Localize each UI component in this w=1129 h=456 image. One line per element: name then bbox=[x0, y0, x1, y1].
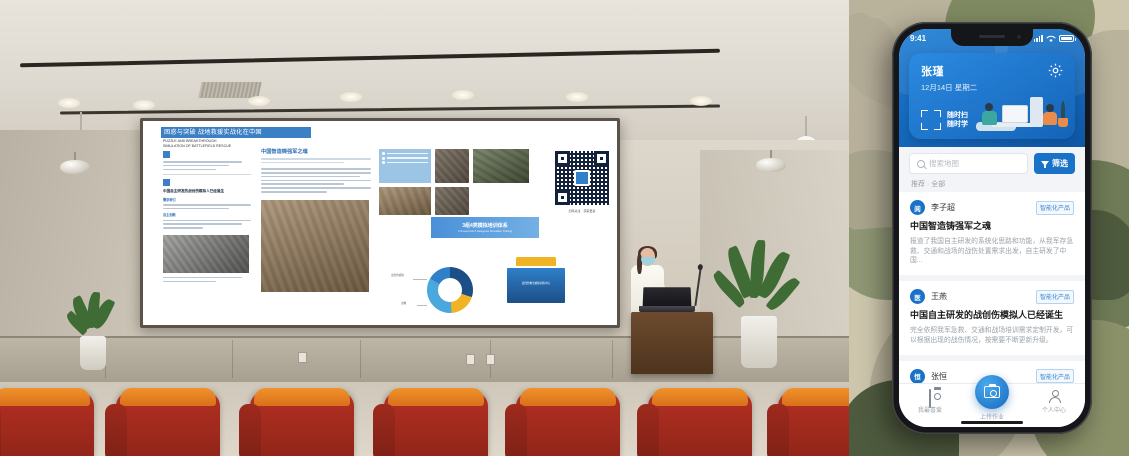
home-indicator bbox=[961, 421, 1023, 424]
status-badge: 智能化产品 bbox=[1036, 369, 1074, 383]
auditorium-seat bbox=[516, 392, 620, 456]
wall-socket bbox=[486, 354, 495, 365]
article-desc: 报道了我国自主研发的系统化思路和功能，从我军存急救、交通和战场的战伤处置需求出发… bbox=[910, 237, 1074, 267]
presentation-title-en: PUZZLE AND BREAKTHROUGH SIMULATION OF BA… bbox=[163, 139, 231, 150]
slide-donut-chart bbox=[427, 267, 473, 313]
auditorium-seat bbox=[116, 392, 220, 456]
slide-left-column: 中国自主研发的战创伤模拟人已经诞生 需求牵引 自主创新 bbox=[163, 151, 251, 284]
status-badge: 智能化产品 bbox=[1036, 201, 1074, 215]
section-marker-icon bbox=[163, 151, 170, 158]
wifi-icon bbox=[1046, 35, 1056, 43]
list-item[interactable]: 阅 李子超 智能化产品 中国智造铸强军之魂 报道了我国自主研发的系统化思路和功能… bbox=[899, 192, 1085, 275]
slide-subsection-label: 需求牵引 bbox=[163, 197, 251, 202]
funnel-icon bbox=[1041, 160, 1049, 168]
filter-button[interactable]: 筛选 bbox=[1034, 153, 1075, 174]
author-name: 李子超 bbox=[931, 202, 1030, 213]
slide-center-heading: 中国智造铸强军之魂 bbox=[261, 149, 371, 156]
downlight bbox=[58, 98, 80, 108]
potted-plant bbox=[723, 246, 795, 376]
user-greeting-card[interactable]: 张瑾 12月14日 星期二 随时扫 bbox=[909, 53, 1075, 139]
user-icon bbox=[1048, 390, 1061, 403]
search-icon bbox=[917, 160, 925, 168]
slide-subsection-label: 自主创新 bbox=[163, 212, 251, 217]
article-title: 中国自主研发的战创伤模拟人已经诞生 bbox=[910, 310, 1074, 322]
slide-building-card: 战创伤救治模拟训练中心 bbox=[507, 257, 565, 303]
downlight bbox=[248, 96, 270, 106]
slide-photo-rescue-large bbox=[261, 200, 369, 292]
phone-notch bbox=[951, 29, 1033, 46]
avatar: 恒 bbox=[910, 369, 925, 383]
camera-outline-icon bbox=[929, 389, 931, 408]
tab-favorites[interactable]: 我最喜爱 bbox=[899, 390, 961, 414]
search-input[interactable]: 搜索地图 bbox=[909, 153, 1028, 174]
ceiling-vent bbox=[198, 82, 261, 98]
status-time: 9:41 bbox=[910, 34, 926, 43]
list-item[interactable]: 医 王燕 智能化产品 中国自主研发的战创伤模拟人已经诞生 完全依照我军急救、交通… bbox=[899, 281, 1085, 354]
downlight bbox=[566, 92, 588, 102]
podium bbox=[631, 312, 713, 374]
slide-legend-box bbox=[379, 149, 431, 183]
potted-plant bbox=[70, 296, 116, 376]
conference-room-photo: 困惑与突破 战地救援实战化在中国 PUZZLE AND BREAKTHROUGH… bbox=[0, 0, 849, 456]
dome-camera bbox=[756, 150, 786, 170]
ceiling-light-strip bbox=[20, 49, 720, 68]
qr-code bbox=[553, 149, 611, 207]
search-placeholder: 搜索地图 bbox=[929, 158, 959, 169]
search-bar: 搜索地图 筛选 bbox=[909, 153, 1075, 174]
camera-fab-icon bbox=[984, 386, 1000, 398]
donut-label: 战创伤模拟 bbox=[391, 273, 404, 277]
slide-article-heading: 中国自主研发的战创伤模拟人已经诞生 bbox=[163, 189, 251, 194]
smartphone-mockup: 张瑾 12月14日 星期二 随时扫 bbox=[892, 22, 1092, 434]
tab-label: 个人中心 bbox=[1023, 405, 1085, 414]
scan-shortcut[interactable]: 随时扫 随时学 bbox=[921, 110, 968, 130]
slide-photo-historic bbox=[163, 235, 249, 273]
downlight bbox=[452, 90, 474, 100]
slide-banner: 3组4类模拟培训体系 3 Groups And 4 Categories Sim… bbox=[431, 217, 539, 238]
auditorium-seat bbox=[250, 392, 354, 456]
tab-profile[interactable]: 个人中心 bbox=[1023, 390, 1085, 414]
wall-socket bbox=[466, 354, 475, 365]
battery-icon bbox=[1059, 35, 1074, 42]
tab-label: 上传作业 bbox=[980, 412, 1004, 421]
filter-label: 筛选 bbox=[1052, 158, 1068, 169]
article-list[interactable]: 阅 李子超 智能化产品 中国智造铸强军之魂 报道了我国自主研发的系统化思路和功能… bbox=[899, 192, 1085, 383]
scan-label-line2: 随时学 bbox=[947, 120, 968, 129]
phone-screen: 张瑾 12月14日 星期二 随时扫 bbox=[899, 29, 1085, 427]
auditorium-seat bbox=[648, 392, 752, 456]
donut-label: 战救 bbox=[401, 301, 406, 305]
presentation-title-bar: 困惑与突破 战地救援实战化在中国 bbox=[161, 127, 311, 138]
slide-photo-thumb bbox=[435, 149, 469, 183]
pendant-lamp bbox=[805, 116, 807, 140]
stage-front-panels bbox=[0, 336, 849, 382]
avatar: 阅 bbox=[910, 200, 925, 215]
author-name: 王燕 bbox=[931, 291, 1030, 302]
status-badge: 智能化产品 bbox=[1036, 290, 1074, 304]
upload-camera-button[interactable] bbox=[975, 375, 1009, 409]
auditorium-seat bbox=[384, 392, 488, 456]
avatar: 医 bbox=[910, 289, 925, 304]
article-desc: 完全依照我军急救、交通和战场培训需求定制开发，可以根据出现的战伤情况，按需要不断… bbox=[910, 326, 1074, 346]
wall-socket bbox=[298, 352, 307, 363]
slide-photo-medic bbox=[473, 149, 529, 183]
presentation-title-cn: 困惑与突破 战地救援实战化在中国 bbox=[161, 127, 311, 138]
downlight bbox=[340, 92, 362, 102]
dome-camera bbox=[60, 152, 90, 172]
slide-photo-thumb bbox=[435, 187, 469, 215]
section-label: 推荐 · 全部 bbox=[911, 179, 945, 189]
article-title: 中国智造铸强军之魂 bbox=[910, 221, 1074, 233]
slide-photo-thumb bbox=[379, 187, 431, 215]
auditorium-seat bbox=[778, 392, 849, 456]
face-mask bbox=[641, 257, 655, 265]
downlight bbox=[690, 96, 712, 106]
hero-illustration bbox=[976, 77, 1071, 137]
qr-logo-icon bbox=[574, 170, 590, 186]
ceiling-light-strip bbox=[60, 105, 720, 115]
qr-caption: 扫码关注 获取更多 bbox=[553, 209, 611, 213]
scan-label-line1: 随时扫 bbox=[947, 111, 968, 120]
downlight bbox=[133, 100, 155, 110]
laptop bbox=[639, 287, 695, 313]
presentation-display: 困惑与突破 战地救援实战化在中国 PUZZLE AND BREAKTHROUGH… bbox=[140, 118, 620, 328]
section-marker-icon bbox=[163, 179, 170, 186]
scan-frame-icon bbox=[921, 110, 941, 130]
auditorium-seat bbox=[0, 392, 94, 456]
slide-center-column: 中国智造铸强军之魂 bbox=[261, 149, 371, 292]
signal-bars-icon bbox=[1034, 35, 1043, 42]
screenshot-root: 困惑与突破 战地救援实战化在中国 PUZZLE AND BREAKTHROUGH… bbox=[0, 0, 1129, 456]
